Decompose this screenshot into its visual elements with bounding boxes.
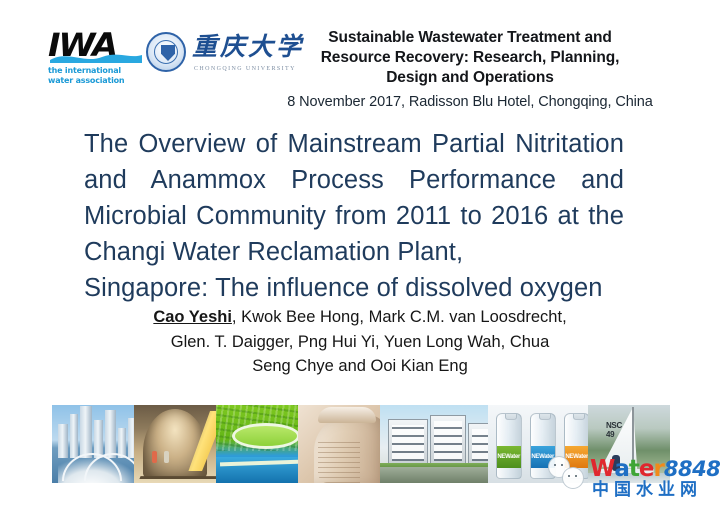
iwa-wave-icon <box>50 51 142 63</box>
conference-title-line2: Resource Recovery: Research, Planning, <box>270 48 670 68</box>
slide-header: IWA the international water association … <box>0 0 720 118</box>
cqu-shield-icon <box>161 45 175 61</box>
presentation-slide: IWA the international water association … <box>0 0 720 509</box>
tunnel-photo <box>134 405 216 483</box>
conference-heading: Sustainable Wastewater Treatment and Res… <box>270 28 670 112</box>
skyline-bridge-shape <box>58 457 134 483</box>
lead-author-name: Cao Yeshi <box>153 308 232 326</box>
chongqing-university-logo: 重庆大学 CHONGQING UNIVERSITY <box>146 30 286 86</box>
iwa-tagline-line1: the international <box>48 66 148 76</box>
cqu-seal-icon <box>146 32 186 72</box>
aerial-plant-photo <box>216 405 298 483</box>
watermark-logo: Water8848.com 中国水业网 <box>548 452 718 507</box>
conference-title: Sustainable Wastewater Treatment and Res… <box>270 28 670 88</box>
iwa-tagline-line2: water association <box>48 76 148 86</box>
presentation-title: The Overview of Mainstream Partial Nitri… <box>84 126 624 306</box>
conference-details: 8 November 2017, Radisson Blu Hotel, Cho… <box>270 93 670 112</box>
bottle-label-1: NEWater <box>497 446 521 468</box>
watermark-droplet-mascot-icon <box>548 456 594 490</box>
sail-code-line1: NSC <box>606 421 622 430</box>
digester-tank-photo <box>298 405 380 483</box>
iwa-logo: IWA the international water association <box>48 30 144 86</box>
sail-code: NSC 49 <box>606 421 622 439</box>
presentation-title-body: The Overview of Mainstream Partial Nitri… <box>84 130 624 266</box>
singapore-skyline-photo <box>52 405 134 483</box>
iwa-logo-mark: IWA <box>48 30 144 66</box>
sail-code-line2: 49 <box>606 430 622 439</box>
author-list: Cao Yeshi, Kwok Bee Hong, Mark C.M. van … <box>150 305 570 379</box>
conference-title-line1: Sustainable Wastewater Treatment and <box>270 28 670 48</box>
iwa-logo-tagline: the international water association <box>48 66 148 86</box>
watermark-chinese-name: 中国水业网 <box>592 479 702 501</box>
presentation-title-lastline: Singapore: The influence of dissolved ox… <box>84 270 624 306</box>
treatment-building-photo <box>380 405 488 483</box>
conference-title-line3: Design and Operations <box>270 68 670 88</box>
